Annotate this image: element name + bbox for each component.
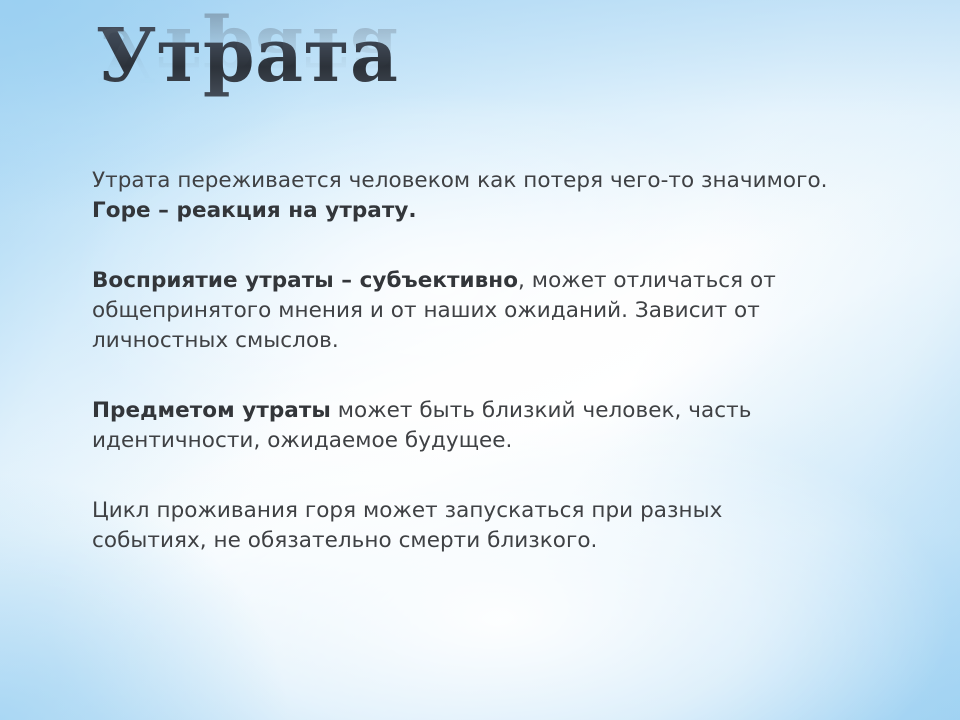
- paragraph-3: Предметом утраты может быть близкий чело…: [92, 396, 840, 456]
- paragraph-4: Цикл проживания горя может запускаться п…: [92, 496, 840, 556]
- presentation-slide: Утрата Утрата Утрата переживается челове…: [0, 0, 960, 720]
- slide-title-block: Утрата Утрата: [96, 14, 856, 146]
- paragraph-2: Восприятие утраты – субъективно, может о…: [92, 266, 840, 356]
- text-run-1: Утрата переживается человеком как потеря…: [92, 168, 828, 193]
- slide-body: Утрата переживается человеком как потеря…: [92, 166, 840, 556]
- text-run-bold-1: Предметом утраты: [92, 398, 331, 423]
- text-run-bold-2: Горе – реакция на утрату.: [92, 198, 417, 223]
- text-run-bold-1: Восприятие утраты – субъективно: [92, 268, 518, 293]
- paragraph-1: Утрата переживается человеком как потеря…: [92, 166, 840, 226]
- slide-title: Утрата: [96, 14, 398, 98]
- text-run-1: Цикл проживания горя может запускаться п…: [92, 498, 722, 553]
